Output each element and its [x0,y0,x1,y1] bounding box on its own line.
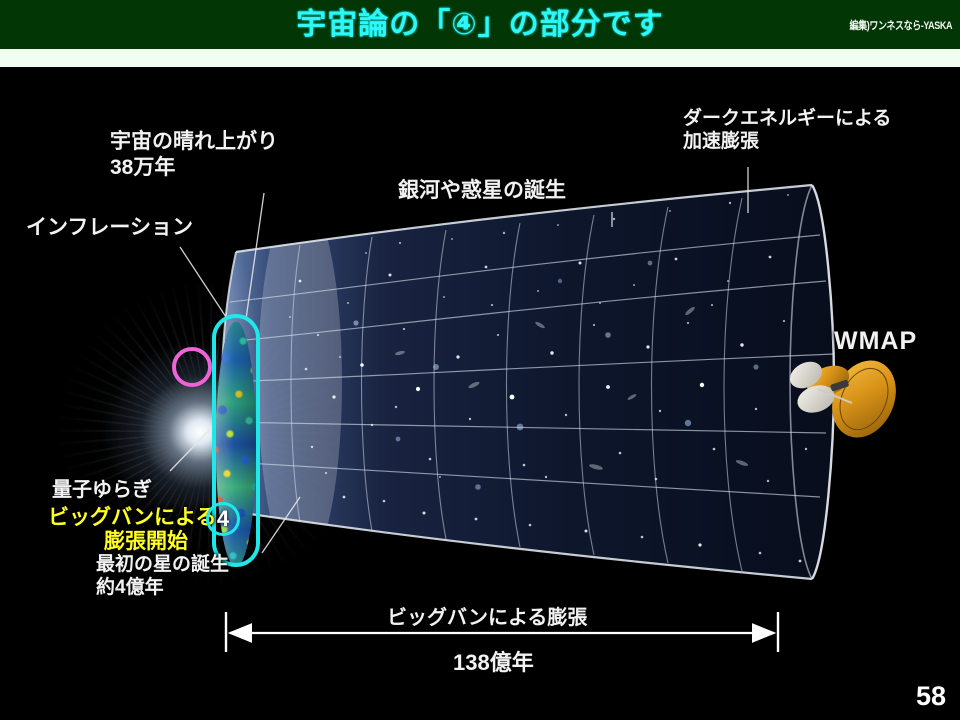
measurement-arrow [0,67,960,697]
page-title: 宇宙論の「④」の部分です [0,2,960,47]
header-divider-strip [0,49,960,67]
page-number: 58 [916,681,946,712]
editor-credit: 編集)ワンネスなら-YASKA [849,17,952,33]
cosmology-diagram: 宇宙の晴れ上がり 38万年 インフレーション 銀河や惑星の誕生 ダークエネルギー… [0,67,960,697]
slide-header: 宇宙論の「④」の部分です 編集)ワンネスなら-YASKA [0,0,960,49]
slide: 宇宙論の「④」の部分です 編集)ワンネスなら-YASKA [0,0,960,720]
footer-bar [0,698,960,720]
